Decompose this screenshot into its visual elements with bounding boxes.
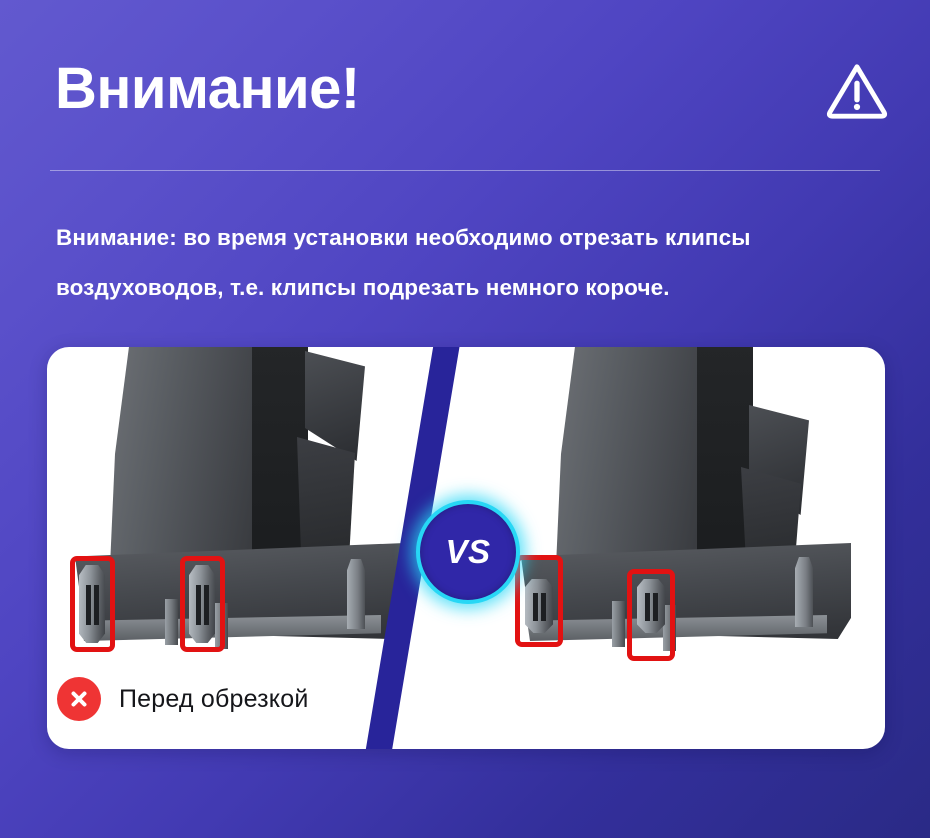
- highlight-box: [180, 556, 225, 652]
- warning-banner: Внимание! Внимание: во время установки н…: [0, 0, 930, 838]
- highlight-box: [70, 556, 115, 652]
- duct-tab-tall: [795, 557, 813, 627]
- legend-before: Перед обрезкой: [57, 677, 309, 721]
- highlight-box: [627, 569, 675, 661]
- highlight-box: [515, 555, 563, 647]
- warning-triangle-icon: [826, 60, 888, 122]
- comparison-card: Перед обрезкой: [47, 347, 885, 749]
- duct-tab: [165, 599, 178, 645]
- duct-tab-tall: [347, 559, 365, 629]
- duct-tab: [612, 601, 625, 647]
- vs-badge: VS: [416, 500, 520, 604]
- cross-circle-icon: [57, 677, 101, 721]
- page-title: Внимание!: [55, 54, 360, 124]
- header: Внимание!: [0, 0, 930, 172]
- legend-label-before: Перед обрезкой: [119, 685, 309, 714]
- panel-after: после обрезки: [477, 347, 885, 749]
- photo-after: [477, 347, 885, 677]
- vs-label: VS: [445, 533, 490, 571]
- warning-description: Внимание: во время установки необходимо …: [56, 213, 884, 313]
- header-divider: [50, 170, 880, 171]
